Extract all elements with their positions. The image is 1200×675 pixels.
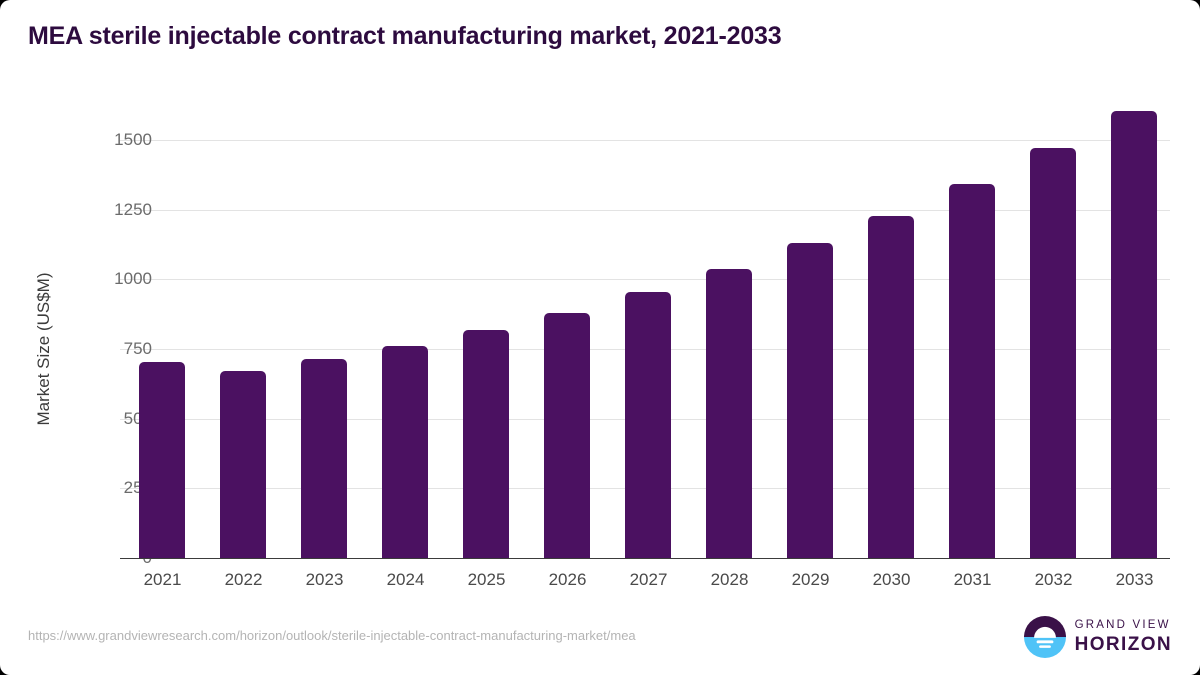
bar-slot (608, 140, 689, 558)
x-axis-tick-label-2026: 2026 (527, 570, 608, 590)
bar-2028[interactable] (706, 269, 752, 558)
bar-2027[interactable] (625, 292, 671, 558)
bar-slot (851, 140, 932, 558)
brand-logo[interactable]: GRAND VIEW HORIZON (1024, 616, 1172, 658)
x-axis-tick-label-2023: 2023 (284, 570, 365, 590)
bar-2033[interactable] (1111, 111, 1157, 558)
x-axis-tick-label-2025: 2025 (446, 570, 527, 590)
bar-slot (284, 140, 365, 558)
chart-page: MEA sterile injectable contract manufact… (0, 0, 1200, 675)
x-axis-tick-label-2029: 2029 (770, 570, 851, 590)
logo-text-horizon: HORIZON (1075, 635, 1172, 654)
bar-2029[interactable] (787, 243, 833, 558)
bar-slot (527, 140, 608, 558)
bar-slot (770, 140, 851, 558)
bars-layer (120, 140, 1155, 558)
bar-slot (203, 140, 284, 558)
bar-2030[interactable] (868, 216, 914, 558)
bar-2024[interactable] (382, 346, 428, 558)
x-axis-tick-label-2030: 2030 (851, 570, 932, 590)
bar-2021[interactable] (139, 362, 185, 558)
bar-slot (932, 140, 1013, 558)
bar-2023[interactable] (301, 359, 347, 558)
bar-slot (365, 140, 446, 558)
x-axis-tick-label-2032: 2032 (1013, 570, 1094, 590)
page-title: MEA sterile injectable contract manufact… (28, 22, 781, 51)
bar-2025[interactable] (463, 330, 509, 558)
bar-slot (122, 140, 203, 558)
x-axis-tick-label-2022: 2022 (203, 570, 284, 590)
bar-slot (446, 140, 527, 558)
bar-2032[interactable] (1030, 148, 1076, 558)
logo-text-grand-view: GRAND VIEW (1075, 620, 1172, 632)
bar-slot (689, 140, 770, 558)
x-axis-tick-label-2024: 2024 (365, 570, 446, 590)
bar-2022[interactable] (220, 371, 266, 558)
x-axis-tick-label-2027: 2027 (608, 570, 689, 590)
bar-2026[interactable] (544, 313, 590, 558)
bar-slot (1094, 140, 1175, 558)
bar-2031[interactable] (949, 184, 995, 558)
plot-area: Market Size (US$M) 025050075010001250150… (120, 140, 1170, 558)
logo-wordmark: GRAND VIEW HORIZON (1075, 620, 1172, 654)
x-axis-tick-label-2028: 2028 (689, 570, 770, 590)
grand-view-horizon-logo-icon (1024, 616, 1066, 658)
x-axis-tick-label-2021: 2021 (122, 570, 203, 590)
x-axis-tick-label-2033: 2033 (1094, 570, 1175, 590)
source-url[interactable]: https://www.grandviewresearch.com/horizo… (28, 628, 636, 643)
x-axis-tick-label-2031: 2031 (932, 570, 1013, 590)
bar-slot (1013, 140, 1094, 558)
